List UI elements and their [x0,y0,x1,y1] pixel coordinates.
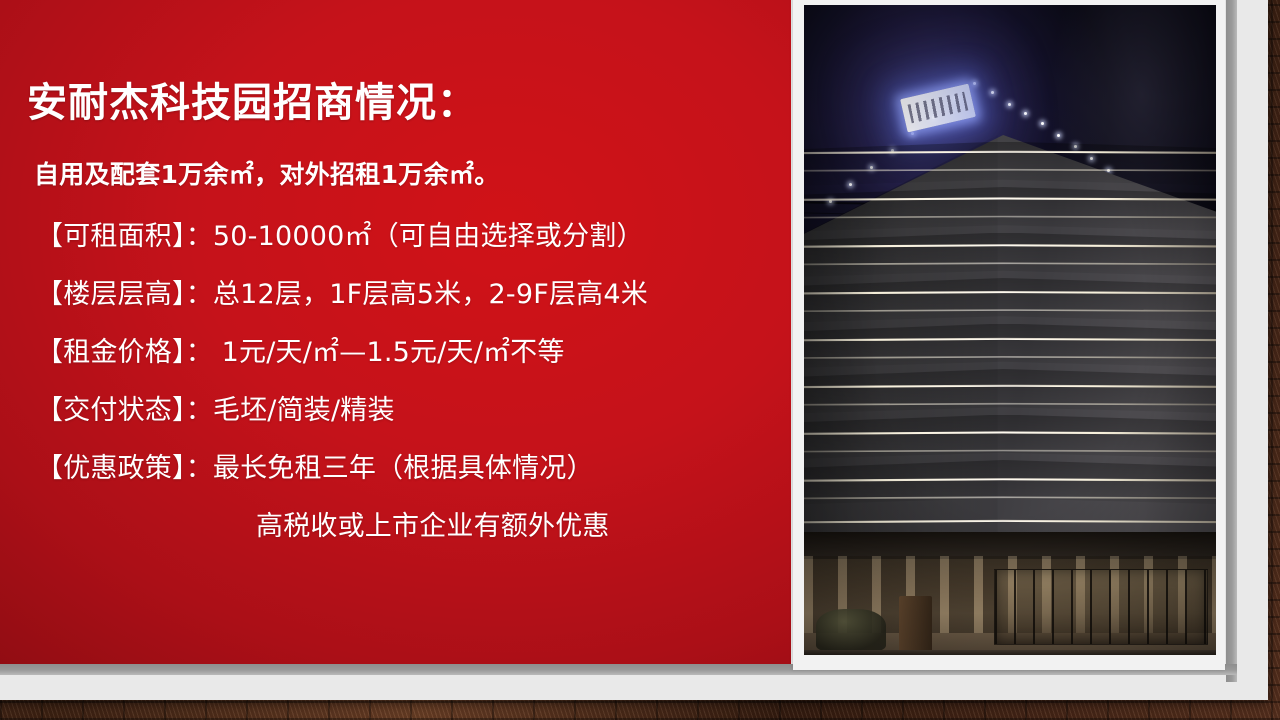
detail-list: 【可租面积】：50-10000㎡（可自由选择或分割） 【楼层层高】：总12层，1… [0,208,791,556]
list-item: 【楼层层高】：总12层，1F层高5米，2-9F层高4米 [0,266,791,324]
lobby-entrance [804,532,1216,656]
slide-root: 安耐杰科技园招商情况： 自用及配套1万余㎡，对外招租1万余㎡。 【可租面积】：5… [0,0,1280,720]
photo-frame [793,0,1225,670]
plate-bevel-right [1226,0,1237,682]
list-item: 【租金价格】： 1元/天/㎡—1.5元/天/㎡不等 [0,324,791,382]
roof-light-dot [973,82,976,85]
lobby-soffit [804,532,1216,559]
list-item: 【优惠政策】：最长免租三年（根据具体情况） [0,440,791,498]
list-item: 【可租面积】：50-10000㎡（可自由选择或分割） [0,208,791,266]
ground-pavement [804,650,1216,655]
list-item: 高税收或上市企业有额外优惠 [0,498,791,556]
slide-plate: 安耐杰科技园招商情况： 自用及配套1万余㎡，对外招租1万余㎡。 【可租面积】：5… [0,0,1268,700]
lobby-pillar [899,596,932,653]
lobby-glass-railing [994,569,1208,646]
roof-light-dot [1008,103,1011,106]
roof-light-dot [1041,122,1044,125]
red-content-panel: 安耐杰科技园招商情况： 自用及配套1万余㎡，对外招租1万余㎡。 【可租面积】：5… [0,0,791,664]
list-item: 【交付状态】：毛坯/简装/精装 [0,382,791,440]
building-night-photo [804,5,1216,655]
page-title: 安耐杰科技园招商情况： [27,80,478,126]
subtitle: 自用及配套1万余㎡，对外招租1万余㎡。 [34,155,500,191]
lobby-planter [816,609,886,651]
